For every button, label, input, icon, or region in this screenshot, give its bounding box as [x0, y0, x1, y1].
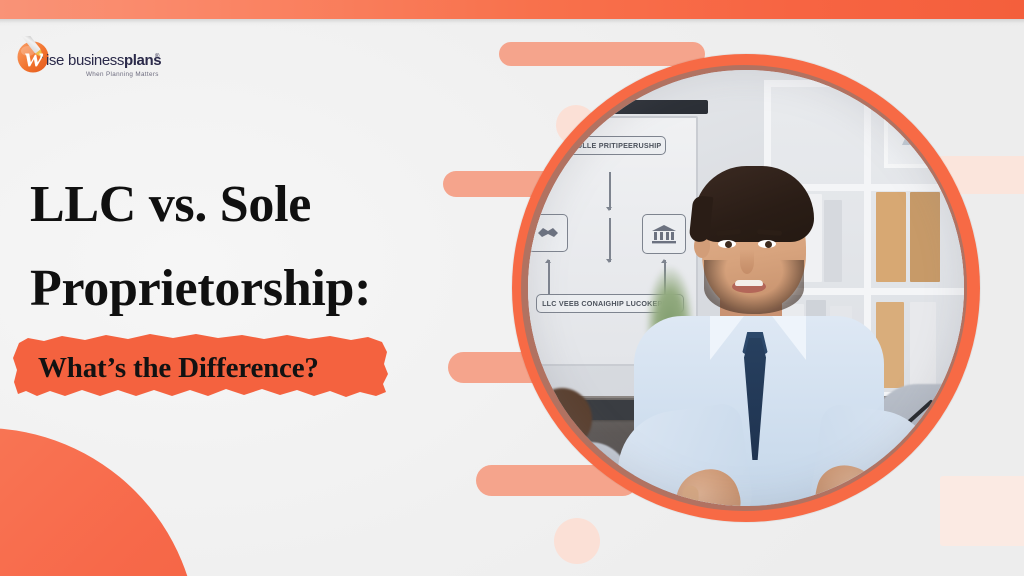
- top-bar-shadow: [0, 19, 1024, 26]
- slide-canvas: w ise business plans ® When Planning Mat…: [0, 0, 1024, 576]
- svg-text:w: w: [25, 42, 44, 72]
- wisebusinessplans-logo[interactable]: w ise business plans ® When Planning Mat…: [12, 36, 162, 82]
- decor-dot-2: [554, 518, 600, 564]
- subtitle-text: What’s the Difference?: [38, 352, 319, 385]
- arrow-down-1: [609, 172, 611, 210]
- svg-text:When Planning Matters: When Planning Matters: [86, 71, 159, 78]
- page-title-line-2: Proprietorship:: [30, 247, 500, 331]
- svg-text:business: business: [68, 52, 124, 69]
- arrow-down-2: [609, 218, 611, 262]
- decor-bar-1: [499, 42, 705, 66]
- svg-text:®: ®: [155, 53, 160, 60]
- main-speaker: [624, 110, 904, 506]
- bottom-left-orange-blob: [0, 428, 198, 576]
- page-title: LLC vs. Sole Proprietorship:: [30, 163, 500, 331]
- hero-photo: VO SOLLE PRITIPEERUSHIP: [528, 70, 964, 506]
- office-scene: VO SOLLE PRITIPEERUSHIP: [528, 70, 964, 506]
- arrow-up-1: [548, 260, 550, 294]
- page-title-line-1: LLC vs. Sole: [30, 163, 500, 247]
- logo-svg: w ise business plans ® When Planning Mat…: [12, 36, 162, 82]
- handshake-icon: [528, 214, 568, 252]
- svg-text:ise: ise: [46, 52, 64, 69]
- handshake-glyph: [536, 224, 560, 242]
- top-accent-bar: [0, 0, 1024, 19]
- subtitle-block: What’s the Difference?: [10, 330, 404, 410]
